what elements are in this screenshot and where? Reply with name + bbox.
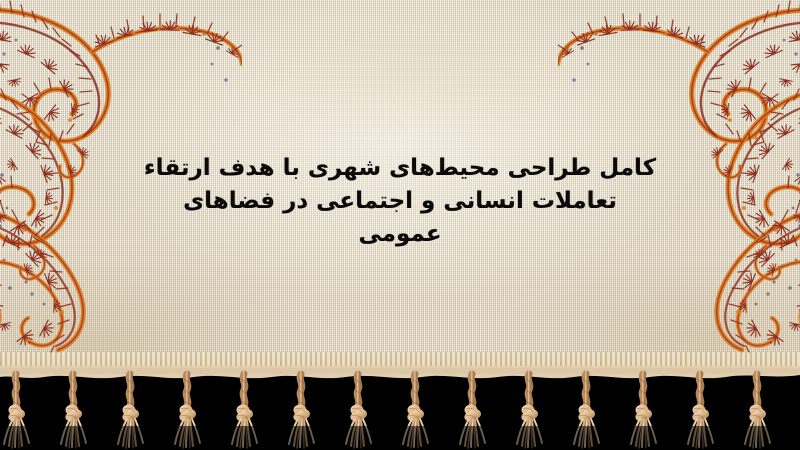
title-line-1: کامل طراحی محیط‌های شهری با هدف ارتقاء bbox=[0, 152, 800, 185]
title-line-2: تعاملات انسانی و اجتماعی در فضاهای bbox=[0, 185, 800, 218]
title-line-3: عمومی bbox=[0, 218, 800, 251]
textile-title-card: کامل طراحی محیط‌های شهری با هدف ارتقاء ت… bbox=[0, 0, 800, 450]
knotted-tassel-fringe bbox=[0, 366, 800, 450]
page-title: کامل طراحی محیط‌های شهری با هدف ارتقاء ت… bbox=[0, 152, 800, 251]
